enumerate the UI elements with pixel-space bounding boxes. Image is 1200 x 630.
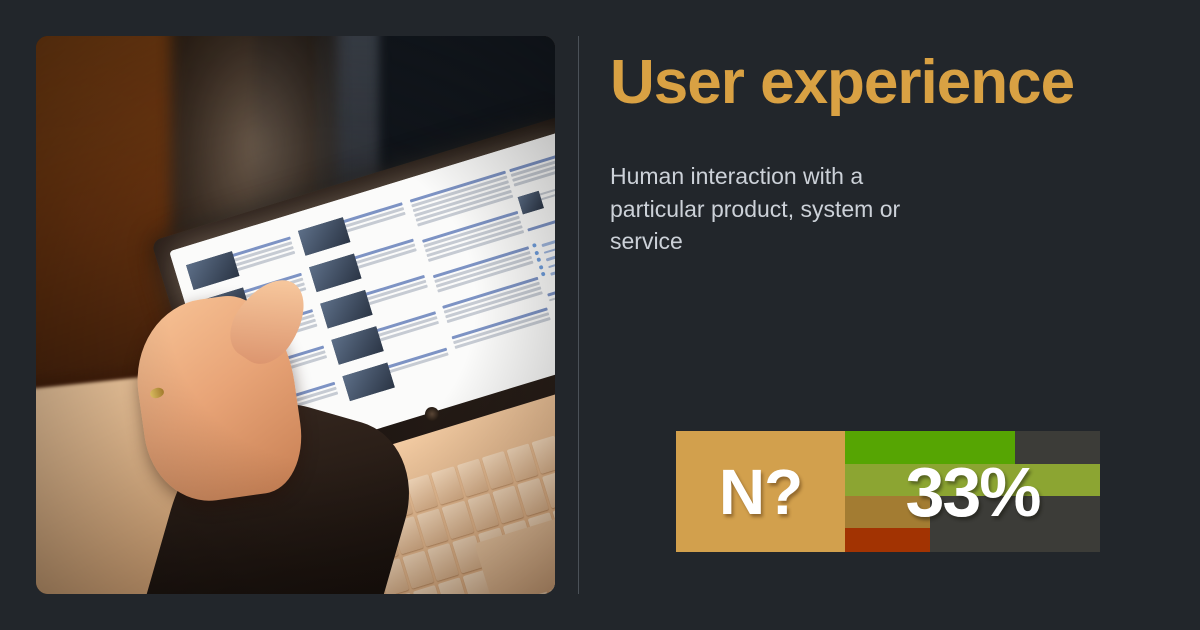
laptop-photo xyxy=(36,36,555,594)
vertical-divider xyxy=(578,36,579,594)
badge-label: N? xyxy=(676,431,845,552)
photo-card xyxy=(36,36,555,594)
badge-value: 33% xyxy=(845,431,1100,552)
page-title: User experience xyxy=(610,50,1170,117)
slide-canvas: User experience Human interaction with a… xyxy=(0,0,1200,630)
description-text: Human interaction with a particular prod… xyxy=(610,160,930,258)
stat-badge: N? 33% xyxy=(676,431,1100,552)
